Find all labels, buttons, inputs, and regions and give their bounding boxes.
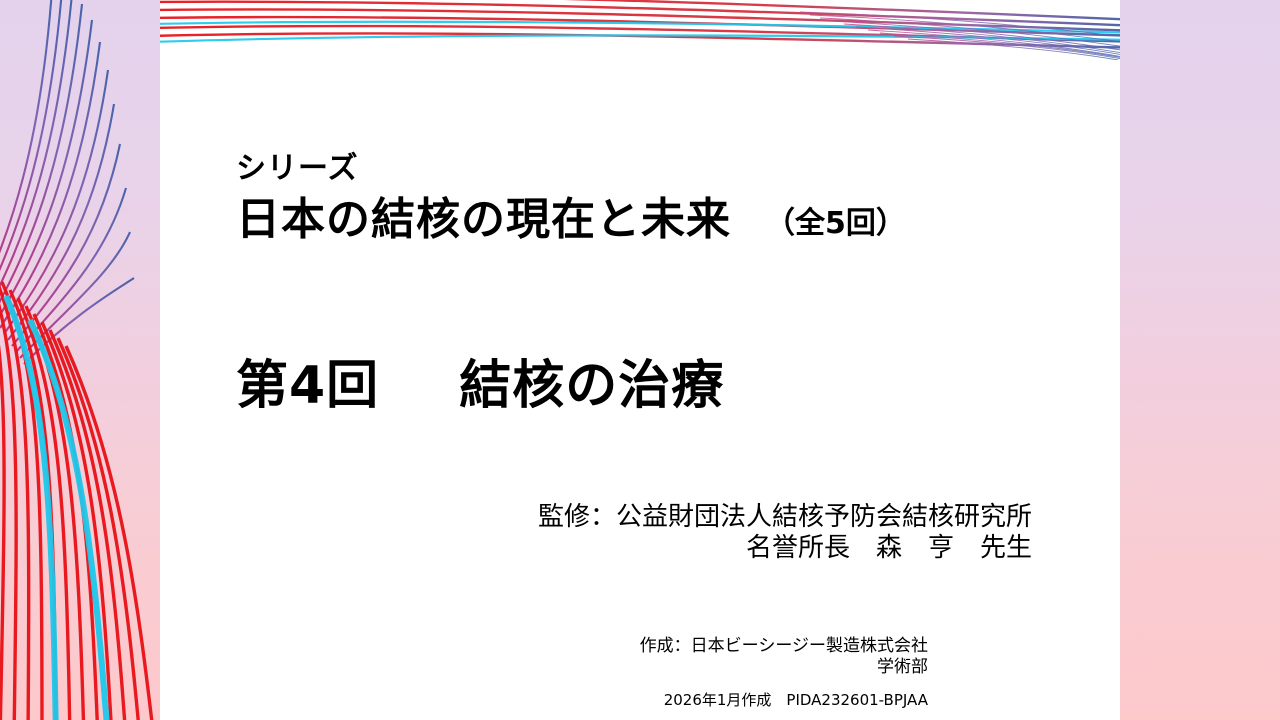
episode-number: 第4回 xyxy=(236,358,379,415)
producer-company: 作成：日本ビーシージー製造株式会社 xyxy=(640,636,928,657)
slide-content-panel: シリーズ 日本の結核の現在と未来 （全5回） 第4回 結核の治療 監修：公益財団… xyxy=(160,0,1120,720)
document-code: 2026年1月作成 PIDA232601-BPJAA xyxy=(664,689,928,710)
supervisor-credit: 監修：公益財団法人結核予防会結核研究所 名誉所長 森 亨 先生 xyxy=(538,502,1032,563)
presentation-slide: シリーズ 日本の結核の現在と未来 （全5回） 第4回 結核の治療 監修：公益財団… xyxy=(0,0,1280,720)
episode-title: 結核の治療 xyxy=(459,358,724,415)
producer-credit: 作成：日本ビーシージー製造株式会社 学術部 xyxy=(640,636,928,679)
series-episode-count: （全5回） xyxy=(765,207,906,244)
series-title-row: 日本の結核の現在と未来 （全5回） xyxy=(236,196,906,244)
supervisor-person: 名誉所長 森 亨 先生 xyxy=(538,533,1032,564)
series-title: 日本の結核の現在と未来 xyxy=(236,196,731,244)
supervisor-organization: 監修：公益財団法人結核予防会結核研究所 xyxy=(538,502,1032,533)
right-gradient-band xyxy=(1120,0,1280,720)
producer-department: 学術部 xyxy=(640,657,928,678)
series-label: シリーズ xyxy=(236,152,359,185)
left-gradient-band xyxy=(0,0,160,720)
episode-heading: 第4回 結核の治療 xyxy=(236,358,724,415)
